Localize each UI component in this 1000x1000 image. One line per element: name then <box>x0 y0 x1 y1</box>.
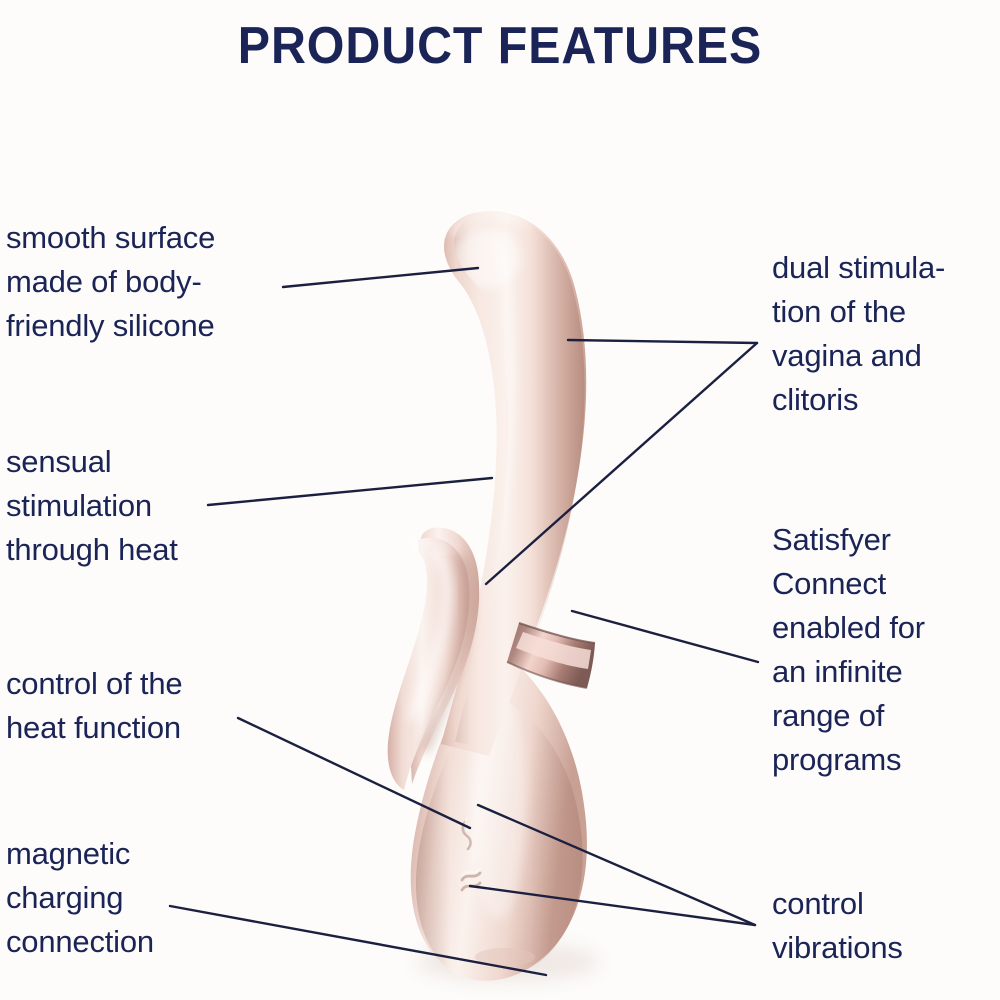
callout-sensual-heat: sensual stimulation through heat <box>6 440 316 572</box>
callout-magnetic-charging: magnetic charging connection <box>6 832 326 964</box>
callout-smooth-surface: smooth surface made of body- friendly si… <box>6 216 326 348</box>
callout-satisfyer-connect: Satisfyer Connect enabled for an infinit… <box>772 518 997 782</box>
callout-control-vibrations: control vibrations <box>772 882 997 970</box>
callout-dual-stimulation: dual stimula- tion of the vagina and cli… <box>772 246 997 422</box>
magnetic-charging-contact <box>475 948 535 966</box>
product-features-infographic: PRODUCT FEATURES <box>0 0 1000 1000</box>
callout-heat-control: control of the heat function <box>6 662 316 750</box>
